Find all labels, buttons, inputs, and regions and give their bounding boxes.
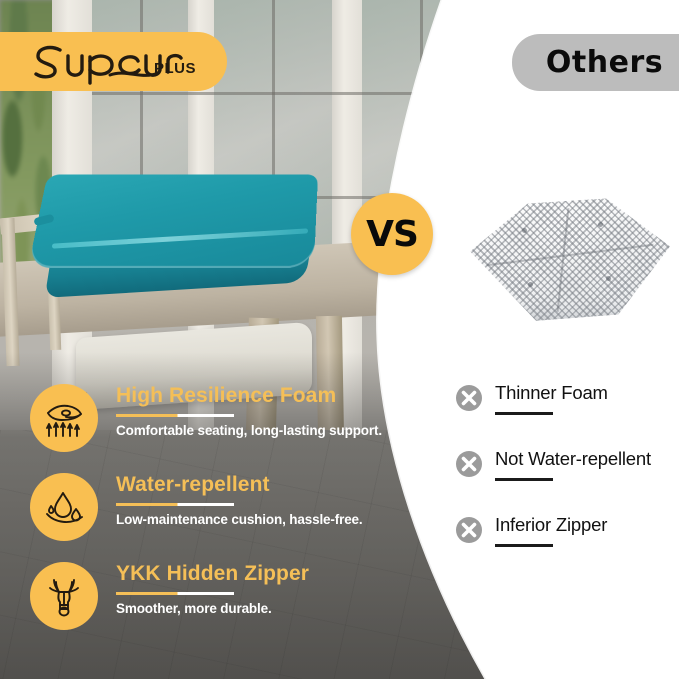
feature-text: High Resilience Foam Comfortable seating… (116, 384, 378, 438)
feature-list: High Resilience Foam Comfortable seating… (26, 376, 378, 643)
con-text: Not Water-repellent (495, 448, 679, 481)
tuft-4 (606, 276, 611, 281)
others-label: Others (546, 45, 663, 80)
con-title: Inferior Zipper (495, 514, 679, 536)
feature-rule (116, 414, 234, 417)
x-circle-icon (455, 384, 483, 412)
feature-desc: Comfortable seating, long-lasting suppor… (116, 423, 378, 438)
tuft-2 (598, 222, 603, 227)
con-title: Thinner Foam (495, 382, 679, 404)
con-text: Inferior Zipper (495, 514, 679, 547)
brand-suffix: PLUS (154, 60, 196, 77)
feature-item: Water-repellent Low-maintenance cushion,… (26, 465, 378, 554)
con-item: Not Water-repellent (455, 448, 679, 514)
feature-desc: Low-maintenance cushion, hassle-free. (116, 512, 378, 527)
con-rule (495, 412, 553, 415)
con-item: Thinner Foam (455, 382, 679, 448)
others-header-pill: Others (512, 34, 679, 91)
brand-badge: PLUS (0, 32, 227, 91)
feature-title: YKK Hidden Zipper (116, 562, 378, 585)
con-rule (495, 478, 553, 481)
feature-desc: Smoother, more durable. (116, 601, 378, 616)
x-circle-icon (455, 450, 483, 478)
versus-badge: VS (351, 193, 433, 275)
tuft-3 (528, 282, 533, 287)
feature-text: YKK Hidden Zipper Smoother, more durable… (116, 562, 378, 616)
hand-supporting-foam-icon (30, 384, 98, 452)
zipper-icon (30, 562, 98, 630)
product-cushion-theirs (466, 196, 672, 322)
water-droplet-repel-icon (30, 473, 98, 541)
feature-text: Water-repellent Low-maintenance cushion,… (116, 473, 378, 527)
feature-title: High Resilience Foam (116, 384, 378, 407)
feature-item: High Resilience Foam Comfortable seating… (26, 376, 378, 465)
x-circle-icon (455, 516, 483, 544)
feature-rule (116, 503, 234, 506)
con-title: Not Water-repellent (495, 448, 679, 470)
infographic-canvas: PLUS Others VS Hi (0, 0, 679, 679)
brand-logo-wordmark: PLUS (30, 39, 200, 85)
con-list: Thinner Foam Not Water-repellent (455, 382, 679, 580)
tuft-1 (522, 228, 527, 233)
versus-label: VS (366, 214, 418, 255)
con-text: Thinner Foam (495, 382, 679, 415)
other-cushion-body (466, 196, 672, 322)
feature-rule (116, 592, 234, 595)
con-rule (495, 544, 553, 547)
con-item: Inferior Zipper (455, 514, 679, 580)
feature-item: YKK Hidden Zipper Smoother, more durable… (26, 554, 378, 643)
feature-title: Water-repellent (116, 473, 378, 496)
